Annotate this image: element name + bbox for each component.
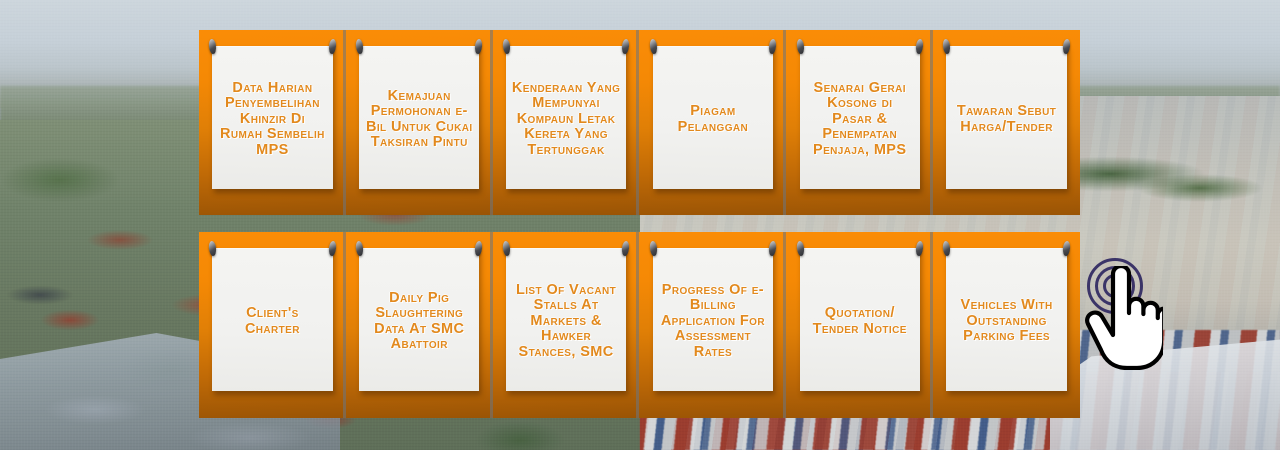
- tile-label: Tawaran Sebut Harga/Tender: [952, 104, 1060, 135]
- pin-icon-left: [502, 39, 511, 55]
- pin-icon-right: [768, 39, 777, 55]
- tile-sheet: Senarai Gerai Kosong di Pasar & Penempat…: [800, 46, 920, 189]
- pin-icon-left: [208, 39, 217, 55]
- pin-icon-right: [328, 241, 337, 257]
- tile-label: Kemajuan Permohonan e-Bil Untuk Cukai Ta…: [365, 89, 473, 151]
- service-tiles-grid: Data Harian Penyembelihan Khinzir Di Rum…: [199, 30, 1080, 418]
- tile-sheet: Tawaran Sebut Harga/Tender: [946, 46, 1066, 189]
- tile-label: Vehicles With Outstanding Parking Fees: [952, 298, 1060, 345]
- tile-label: Progress Of e-Billing Application For As…: [659, 283, 767, 361]
- tile-senarai-gerai-kosong[interactable]: Senarai Gerai Kosong di Pasar & Penempat…: [786, 30, 933, 215]
- tile-sheet: Data Harian Penyembelihan Khinzir Di Rum…: [212, 46, 332, 189]
- tile-sheet: Quotation/ Tender Notice: [800, 248, 920, 391]
- tile-sheet: Piagam Pelanggan: [653, 46, 773, 189]
- pin-icon-left: [796, 241, 805, 257]
- pin-icon-left: [355, 39, 364, 55]
- tile-vehicles-outstanding-parking-fees[interactable]: Vehicles With Outstanding Parking Fees: [933, 232, 1080, 418]
- pin-icon-right: [328, 39, 337, 55]
- tile-kenderaan-kompaun-letak-kereta[interactable]: Kenderaan Yang Mempunyai Kompaun Letak K…: [493, 30, 640, 215]
- tile-sheet: Client's Charter: [212, 248, 332, 391]
- tile-list-of-vacant-stalls[interactable]: List Of Vacant Stalls At Markets & Hawke…: [493, 232, 640, 418]
- pin-icon-left: [208, 241, 217, 257]
- tile-quotation-tender-notice[interactable]: Quotation/ Tender Notice: [786, 232, 933, 418]
- pin-icon-left: [943, 241, 952, 257]
- pin-icon-left: [502, 241, 511, 257]
- tile-label: Daily Pig Slaughtering Data At SMC Abatt…: [365, 291, 473, 353]
- tile-label: Data Harian Penyembelihan Khinzir Di Rum…: [218, 81, 326, 159]
- pin-icon-right: [475, 241, 484, 257]
- pin-icon-right: [1062, 39, 1071, 55]
- tile-label: List Of Vacant Stalls At Markets & Hawke…: [512, 283, 620, 361]
- tile-data-harian-penyembelihan[interactable]: Data Harian Penyembelihan Khinzir Di Rum…: [199, 30, 346, 215]
- pin-icon-right: [475, 39, 484, 55]
- tile-kemajuan-permohonan-e-bil[interactable]: Kemajuan Permohonan e-Bil Untuk Cukai Ta…: [346, 30, 493, 215]
- pin-icon-right: [915, 241, 924, 257]
- pin-icon-left: [649, 241, 658, 257]
- pin-icon-right: [768, 241, 777, 257]
- tile-sheet: Daily Pig Slaughtering Data At SMC Abatt…: [359, 248, 479, 391]
- tile-label: Client's Charter: [218, 306, 326, 337]
- tile-progress-e-billing-assessment[interactable]: Progress Of e-Billing Application For As…: [639, 232, 786, 418]
- tile-sheet: Kemajuan Permohonan e-Bil Untuk Cukai Ta…: [359, 46, 479, 189]
- tile-sheet: List Of Vacant Stalls At Markets & Hawke…: [506, 248, 626, 391]
- tile-piagam-pelanggan[interactable]: Piagam Pelanggan: [639, 30, 786, 215]
- pin-icon-right: [622, 39, 631, 55]
- tile-clients-charter[interactable]: Client's Charter: [199, 232, 346, 418]
- tile-daily-pig-slaughtering-data[interactable]: Daily Pig Slaughtering Data At SMC Abatt…: [346, 232, 493, 418]
- pin-icon-right: [915, 39, 924, 55]
- tile-tawaran-sebut-harga-tender[interactable]: Tawaran Sebut Harga/Tender: [933, 30, 1080, 215]
- tile-label: Piagam Pelanggan: [659, 104, 767, 135]
- tile-sheet: Vehicles With Outstanding Parking Fees: [946, 248, 1066, 391]
- pin-icon-right: [1062, 241, 1071, 257]
- pin-icon-left: [355, 241, 364, 257]
- tile-label: Senarai Gerai Kosong di Pasar & Penempat…: [806, 81, 914, 159]
- tile-label: Kenderaan Yang Mempunyai Kompaun Letak K…: [512, 81, 620, 159]
- pin-icon-left: [796, 39, 805, 55]
- tile-sheet: Progress Of e-Billing Application For As…: [653, 248, 773, 391]
- pin-icon-left: [943, 39, 952, 55]
- pin-icon-left: [649, 39, 658, 55]
- tile-label: Quotation/ Tender Notice: [806, 306, 914, 337]
- tile-sheet: Kenderaan Yang Mempunyai Kompaun Letak K…: [506, 46, 626, 189]
- pin-icon-right: [622, 241, 631, 257]
